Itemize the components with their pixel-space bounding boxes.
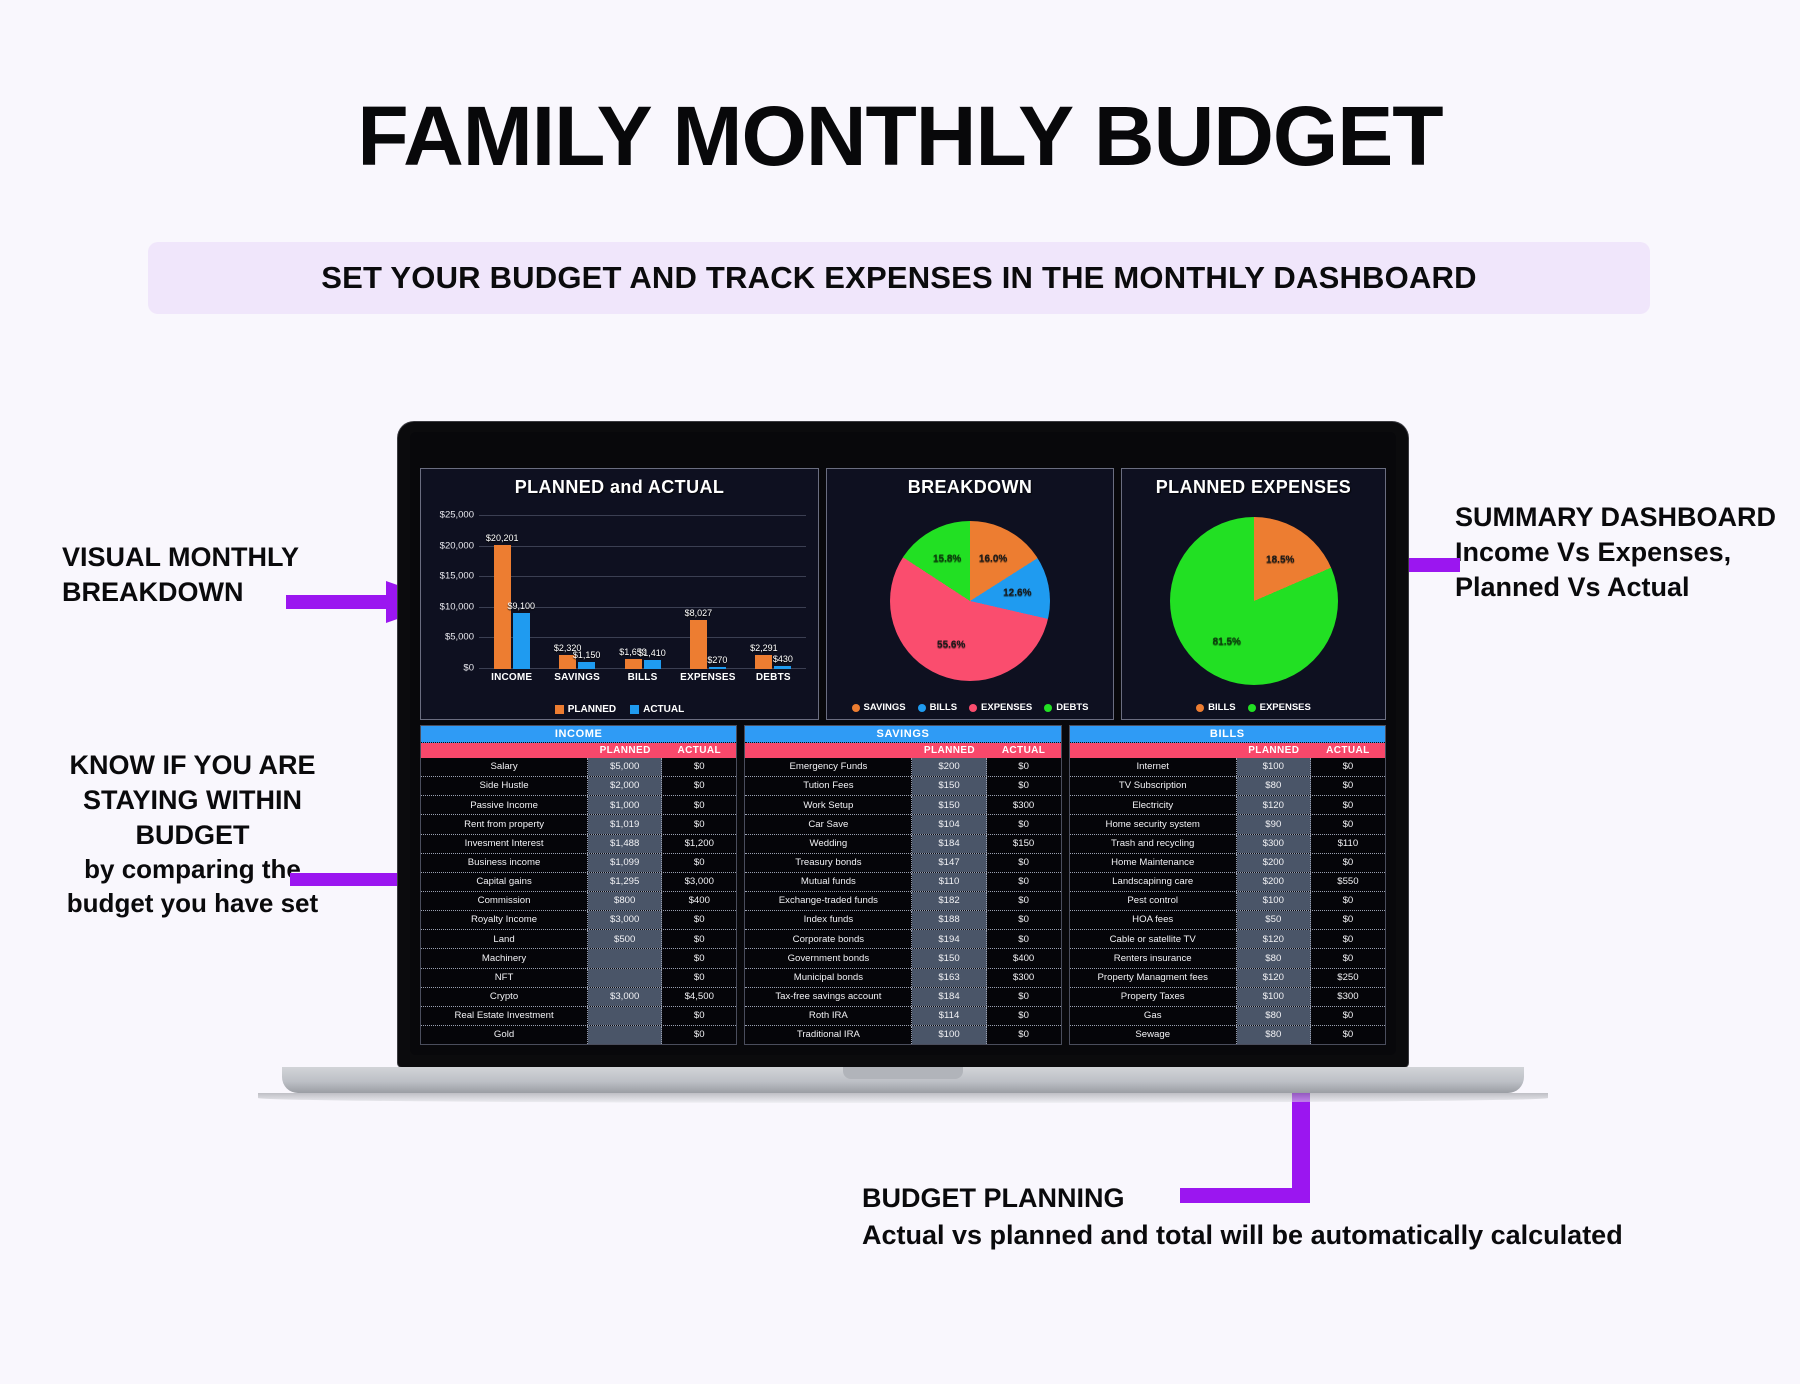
table-row[interactable]: Emergency Funds$200$0 [745, 758, 1060, 777]
actual-cell[interactable]: $0 [662, 854, 736, 872]
table-bills[interactable]: BILLSPLANNEDACTUALInternet$100$0TV Subsc… [1069, 725, 1386, 1045]
legend-item[interactable]: BILLS [918, 702, 957, 713]
bar-value-label: $1,150 [573, 650, 601, 660]
actual-cell[interactable]: $110 [1311, 835, 1385, 853]
actual-cell[interactable]: $0 [662, 796, 736, 814]
x-axis-label: DEBTS [741, 672, 806, 683]
planned-cell[interactable]: $1,019 [588, 815, 662, 833]
subtitle-text: SET YOUR BUDGET AND TRACK EXPENSES IN TH… [321, 260, 1476, 296]
planned-expenses-pie-legend: BILLSEXPENSES [1196, 702, 1311, 715]
actual-cell[interactable]: $150 [987, 835, 1061, 853]
legend-label: SAVINGS [864, 702, 906, 713]
actual-cell[interactable]: $0 [1311, 815, 1385, 833]
bar-value-label: $1,410 [638, 648, 666, 658]
bar-value-label: $8,027 [685, 608, 713, 618]
legend-label: PLANNED [568, 704, 616, 715]
planned-expenses-pie-area: 18.5%81.5% [1128, 500, 1379, 702]
legend-item[interactable]: DEBTS [1044, 702, 1088, 713]
row-label: Tax-free savings account [745, 988, 912, 1006]
laptop-screen: PLANNED and ACTUAL $0$5,000$10,000$15,00… [410, 432, 1396, 1055]
row-label: Municipal bonds [745, 969, 912, 987]
table-row[interactable]: Home security system$90$0 [1070, 815, 1385, 834]
row-label: Business income [421, 854, 588, 872]
planned-cell[interactable]: $80 [1237, 1007, 1311, 1025]
actual-cell[interactable]: $0 [1311, 911, 1385, 929]
actual-cell[interactable]: $0 [1311, 777, 1385, 795]
bar-value-label: $20,201 [486, 533, 519, 543]
table-row[interactable]: Landscapinng care$200$550 [1070, 873, 1385, 892]
planned-cell[interactable]: $90 [1237, 815, 1311, 833]
legend-dot [969, 704, 977, 712]
actual-cell[interactable]: $0 [987, 892, 1061, 910]
table-row[interactable]: Property Taxes$100$300 [1070, 988, 1385, 1007]
table-row[interactable]: Government bonds$150$400 [745, 949, 1060, 968]
row-label: Machinery [421, 949, 588, 967]
table-row[interactable]: Real Estate Investment$0 [421, 1007, 736, 1026]
laptop-lid: PLANNED and ACTUAL $0$5,000$10,000$15,00… [398, 422, 1408, 1067]
row-label: Property Taxes [1070, 988, 1237, 1006]
row-label: Tution Fees [745, 777, 912, 795]
annotation-budget-planning-sub: Actual vs planned and total will be auto… [862, 1217, 1652, 1254]
tables-row: INCOMEPLANNEDACTUALSalary$5,000$0Side Hu… [420, 725, 1386, 1045]
bar-actual[interactable]: $1,150 [578, 662, 595, 669]
legend-swatch [555, 705, 564, 714]
actual-cell[interactable]: $0 [987, 854, 1061, 872]
table-row[interactable]: Sewage$80$0 [1070, 1026, 1385, 1044]
legend-item[interactable]: EXPENSES [969, 702, 1032, 713]
row-label: Pest control [1070, 892, 1237, 910]
table-row[interactable]: Mutual funds$110$0 [745, 873, 1060, 892]
table-row[interactable]: Crypto$3,000$4,500 [421, 988, 736, 1007]
planned-cell[interactable]: $100 [1237, 988, 1311, 1006]
table-row[interactable]: Cable or satellite TV$120$0 [1070, 930, 1385, 949]
x-axis-label: SAVINGS [544, 672, 609, 683]
legend-label: EXPENSES [1260, 702, 1311, 713]
planned-cell[interactable]: $1,295 [588, 873, 662, 891]
column-header [745, 743, 912, 758]
annotation-summary-dashboard-sub: Income Vs Expenses, Planned Vs Actual [1455, 535, 1785, 605]
row-label: Gas [1070, 1007, 1237, 1025]
table-row[interactable]: Pest control$100$0 [1070, 892, 1385, 911]
table-row[interactable]: Treasury bonds$147$0 [745, 854, 1060, 873]
annotation-visual-monthly-breakdown: VISUAL MONTHLY BREAKDOWN [62, 540, 362, 609]
table-row[interactable]: Index funds$188$0 [745, 911, 1060, 930]
table-body: Internet$100$0TV Subscription$80$0Electr… [1070, 758, 1385, 1044]
legend-item[interactable]: EXPENSES [1248, 702, 1311, 713]
table-row[interactable]: Corporate bonds$194$0 [745, 930, 1060, 949]
planned-cell[interactable]: $188 [912, 911, 986, 929]
breakdown-pie-area: 16.0%12.6%55.6%15.8% [833, 500, 1107, 702]
actual-cell[interactable]: $0 [662, 1026, 736, 1044]
row-label: Cable or satellite TV [1070, 930, 1237, 948]
column-header: PLANNED [912, 743, 986, 758]
planned-cell[interactable] [588, 969, 662, 987]
column-header [1070, 743, 1237, 758]
actual-cell[interactable]: $0 [987, 930, 1061, 948]
table-row[interactable]: NFT$0 [421, 969, 736, 988]
pie-slice-label: 12.6% [1003, 587, 1031, 598]
planned-cell[interactable]: $100 [1237, 892, 1311, 910]
table-row[interactable]: Rent from property$1,019$0 [421, 815, 736, 834]
table-row[interactable]: Trash and recycling$300$110 [1070, 835, 1385, 854]
legend-item[interactable]: PLANNED [555, 704, 616, 715]
table-row[interactable]: Tax-free savings account$184$0 [745, 988, 1060, 1007]
planned-cell[interactable]: $80 [1237, 1026, 1311, 1044]
table-row[interactable]: Capital gains$1,295$3,000 [421, 873, 736, 892]
planned-cell[interactable]: $50 [1237, 911, 1311, 929]
planned-cell[interactable]: $182 [912, 892, 986, 910]
bar-actual[interactable]: $9,100 [513, 613, 530, 669]
planned-cell[interactable]: $200 [1237, 854, 1311, 872]
planned-cell[interactable]: $150 [912, 949, 986, 967]
planned-cell[interactable] [588, 1007, 662, 1025]
charts-row: PLANNED and ACTUAL $0$5,000$10,000$15,00… [420, 468, 1386, 720]
actual-cell[interactable]: $0 [662, 758, 736, 776]
bar-chart-plot: $0$5,000$10,000$15,000$20,000$25,000$20,… [479, 516, 806, 669]
actual-cell[interactable]: $550 [1311, 873, 1385, 891]
bar-value-label: $430 [773, 654, 793, 664]
legend-dot [1196, 704, 1204, 712]
actual-cell[interactable]: $400 [662, 892, 736, 910]
bar-value-label: $2,291 [750, 643, 778, 653]
pie-slice-label: 55.6% [937, 640, 965, 651]
planned-cell[interactable]: $200 [1237, 873, 1311, 891]
table-body: Salary$5,000$0Side Hustle$2,000$0Passive… [421, 758, 736, 1044]
planned-cell[interactable]: $3,000 [588, 988, 662, 1006]
row-label: Real Estate Investment [421, 1007, 588, 1025]
table-header-row: PLANNEDACTUAL [745, 743, 1060, 758]
x-axis-label: BILLS [610, 672, 675, 683]
column-header: PLANNED [588, 743, 662, 758]
row-label: Rent from property [421, 815, 588, 833]
actual-cell[interactable]: $0 [662, 911, 736, 929]
legend-dot [918, 704, 926, 712]
bar-group[interactable]: $8,027$270 [675, 516, 740, 669]
actual-cell[interactable]: $0 [987, 873, 1061, 891]
row-label: Wedding [745, 835, 912, 853]
row-label: Government bonds [745, 949, 912, 967]
row-label: Royalty Income [421, 911, 588, 929]
row-label: Invesment Interest [421, 835, 588, 853]
row-label: Emergency Funds [745, 758, 912, 776]
planned-cell[interactable]: $800 [588, 892, 662, 910]
row-label: Commission [421, 892, 588, 910]
budget-dashboard: PLANNED and ACTUAL $0$5,000$10,000$15,00… [416, 468, 1390, 1049]
laptop-base [282, 1067, 1524, 1093]
actual-cell[interactable]: $1,200 [662, 835, 736, 853]
planned-cell[interactable]: $150 [912, 796, 986, 814]
planned-cell[interactable]: $194 [912, 930, 986, 948]
planned-expenses-pie: 18.5%81.5% [1170, 517, 1338, 685]
planned-cell[interactable]: $184 [912, 988, 986, 1006]
planned-cell[interactable]: $3,000 [588, 911, 662, 929]
table-savings[interactable]: SAVINGSPLANNEDACTUALEmergency Funds$200$… [744, 725, 1061, 1045]
actual-cell[interactable]: $4,500 [662, 988, 736, 1006]
planned-cell[interactable]: $200 [912, 758, 986, 776]
legend-label: BILLS [930, 702, 957, 713]
column-header: ACTUAL [1311, 743, 1385, 758]
pie-slice-label: 18.5% [1266, 555, 1294, 566]
row-label: HOA fees [1070, 911, 1237, 929]
actual-cell[interactable]: $0 [987, 988, 1061, 1006]
annotation-budget-planning: BUDGET PLANNING Actual vs planned and to… [862, 1180, 1652, 1255]
table-row[interactable]: Car Save$104$0 [745, 815, 1060, 834]
table-row[interactable]: Property Managment fees$120$250 [1070, 969, 1385, 988]
actual-cell[interactable]: $0 [662, 1007, 736, 1025]
legend-item[interactable]: ACTUAL [630, 704, 684, 715]
bar-value-label: $9,100 [507, 601, 535, 611]
planned-cell[interactable]: $163 [912, 969, 986, 987]
table-row[interactable]: Home Maintenance$200$0 [1070, 854, 1385, 873]
actual-cell[interactable]: $300 [987, 969, 1061, 987]
actual-cell[interactable]: $0 [1311, 1026, 1385, 1044]
actual-cell[interactable]: $250 [1311, 969, 1385, 987]
actual-cell[interactable]: $0 [662, 815, 736, 833]
pie-slice-label: 15.8% [933, 553, 961, 564]
pie-slice-label: 16.0% [979, 553, 1007, 564]
actual-cell[interactable]: $300 [1311, 988, 1385, 1006]
row-label: Work Setup [745, 796, 912, 814]
table-income[interactable]: INCOMEPLANNEDACTUALSalary$5,000$0Side Hu… [420, 725, 737, 1045]
actual-cell[interactable]: $0 [662, 949, 736, 967]
row-label: Exchange-traded funds [745, 892, 912, 910]
legend-swatch [630, 705, 639, 714]
actual-cell[interactable]: $0 [662, 969, 736, 987]
actual-cell[interactable]: $0 [662, 777, 736, 795]
legend-item[interactable]: BILLS [1196, 702, 1235, 713]
row-label: Gold [421, 1026, 588, 1044]
table-header-row: PLANNEDACTUAL [1070, 743, 1385, 758]
bar-planned[interactable]: $1,659 [625, 659, 642, 669]
planned-cell[interactable]: $120 [1237, 796, 1311, 814]
column-header: PLANNED [1237, 743, 1311, 758]
row-label: Home security system [1070, 815, 1237, 833]
table-row[interactable]: Traditional IRA$100$0 [745, 1026, 1060, 1044]
planned-cell[interactable]: $184 [912, 835, 986, 853]
row-label: Land [421, 930, 588, 948]
y-axis-tick: $0 [463, 663, 474, 674]
table-row[interactable]: TV Subscription$80$0 [1070, 777, 1385, 796]
actual-cell[interactable]: $0 [987, 1026, 1061, 1044]
table-row[interactable]: Electricity$120$0 [1070, 796, 1385, 815]
table-row[interactable]: Side Hustle$2,000$0 [421, 777, 736, 796]
table-row[interactable]: Salary$5,000$0 [421, 758, 736, 777]
bar-value-label: $270 [707, 655, 727, 665]
planned-cell[interactable]: $2,000 [588, 777, 662, 795]
x-axis-label: INCOME [479, 672, 544, 683]
table-row[interactable]: Royalty Income$3,000$0 [421, 911, 736, 930]
actual-cell[interactable]: $0 [1311, 1007, 1385, 1025]
legend-item[interactable]: SAVINGS [852, 702, 906, 713]
panel-breakdown[interactable]: BREAKDOWN 16.0%12.6%55.6%15.8% SAVINGSBI… [826, 468, 1114, 720]
legend-dot [852, 704, 860, 712]
y-axis-tick: $25,000 [440, 510, 474, 521]
planned-cell[interactable]: $120 [1237, 969, 1311, 987]
planned-cell[interactable]: $100 [1237, 758, 1311, 776]
column-header [421, 743, 588, 758]
table-row[interactable]: Gas$80$0 [1070, 1007, 1385, 1026]
row-label: Salary [421, 758, 588, 776]
column-header: ACTUAL [662, 743, 736, 758]
bar-actual[interactable]: $270 [709, 667, 726, 669]
table-row[interactable]: Passive Income$1,000$0 [421, 796, 736, 815]
row-label: Roth IRA [745, 1007, 912, 1025]
table-row[interactable]: Internet$100$0 [1070, 758, 1385, 777]
table-row[interactable]: Business income$1,099$0 [421, 854, 736, 873]
planned-cell[interactable]: $5,000 [588, 758, 662, 776]
planned-cell[interactable] [588, 949, 662, 967]
annotation-staying-within-budget: KNOW IF YOU ARE STAYING WITHIN BUDGET by… [60, 748, 325, 921]
actual-cell[interactable]: $0 [987, 777, 1061, 795]
row-label: Treasury bonds [745, 854, 912, 872]
subtitle-banner: SET YOUR BUDGET AND TRACK EXPENSES IN TH… [148, 242, 1650, 314]
row-label: NFT [421, 969, 588, 987]
actual-cell[interactable]: $0 [1311, 892, 1385, 910]
row-label: Crypto [421, 988, 588, 1006]
planned-cell[interactable]: $147 [912, 854, 986, 872]
planned-cell[interactable]: $104 [912, 815, 986, 833]
bar-group[interactable]: $1,659$1,410 [610, 516, 675, 669]
actual-cell[interactable]: $0 [987, 758, 1061, 776]
legend-label: DEBTS [1056, 702, 1088, 713]
bar-chart-legend: PLANNEDACTUAL [555, 703, 684, 715]
chart-title-breakdown: BREAKDOWN [908, 477, 1033, 498]
actual-cell[interactable]: $0 [987, 911, 1061, 929]
panel-planned-and-actual[interactable]: PLANNED and ACTUAL $0$5,000$10,000$15,00… [420, 468, 819, 720]
chart-title-planned-expenses: PLANNED EXPENSES [1156, 477, 1351, 498]
planned-cell[interactable]: $100 [912, 1026, 986, 1044]
x-axis-label: EXPENSES [675, 672, 740, 683]
legend-label: ACTUAL [643, 704, 684, 715]
table-title: INCOME [421, 726, 736, 743]
row-label: Property Managment fees [1070, 969, 1237, 987]
legend-dot [1044, 704, 1052, 712]
actual-cell[interactable]: $3,000 [662, 873, 736, 891]
actual-cell[interactable]: $0 [662, 930, 736, 948]
pie-slice-label: 81.5% [1213, 636, 1241, 647]
bar-chart-x-axis: INCOMESAVINGSBILLSEXPENSESDEBTS [479, 672, 806, 683]
actual-cell[interactable]: $400 [987, 949, 1061, 967]
row-label: Car Save [745, 815, 912, 833]
bar-planned[interactable]: $2,291 [755, 655, 772, 669]
table-row[interactable]: Exchange-traded funds$182$0 [745, 892, 1060, 911]
actual-cell[interactable]: $0 [1311, 796, 1385, 814]
row-label: Capital gains [421, 873, 588, 891]
bar-planned[interactable]: $8,027 [690, 620, 707, 669]
planned-cell[interactable]: $300 [1237, 835, 1311, 853]
planned-cell[interactable]: $1,000 [588, 796, 662, 814]
row-label: Trash and recycling [1070, 835, 1237, 853]
row-label: Landscapinng care [1070, 873, 1237, 891]
y-axis-tick: $5,000 [445, 632, 474, 643]
row-label: Index funds [745, 911, 912, 929]
row-label: Side Hustle [421, 777, 588, 795]
row-label: TV Subscription [1070, 777, 1237, 795]
annotation-summary-dashboard-head: SUMMARY DASHBOARD [1455, 500, 1785, 535]
laptop-mockup: PLANNED and ACTUAL $0$5,000$10,000$15,00… [398, 422, 1408, 1103]
row-label: Renters insurance [1070, 949, 1237, 967]
laptop-notch [843, 1067, 963, 1079]
y-axis-tick: $20,000 [440, 540, 474, 551]
row-label: Electricity [1070, 796, 1237, 814]
table-row[interactable]: HOA fees$50$0 [1070, 911, 1385, 930]
row-label: Passive Income [421, 796, 588, 814]
planned-cell[interactable]: $500 [588, 930, 662, 948]
planned-cell[interactable]: $1,099 [588, 854, 662, 872]
breakdown-pie: 16.0%12.6%55.6%15.8% [890, 521, 1050, 681]
panel-planned-expenses[interactable]: PLANNED EXPENSES 18.5%81.5% BILLSEXPENSE… [1121, 468, 1386, 720]
planned-cell[interactable] [588, 1026, 662, 1044]
bar-chart: $0$5,000$10,000$15,000$20,000$25,000$20,… [427, 500, 812, 703]
table-row[interactable]: Wedding$184$150 [745, 835, 1060, 854]
legend-dot [1248, 704, 1256, 712]
annotation-staying-within-budget-sub: by comparing the budget you have set [60, 853, 325, 921]
planned-cell[interactable]: $1,488 [588, 835, 662, 853]
actual-cell[interactable]: $0 [1311, 758, 1385, 776]
annotation-budget-planning-head: BUDGET PLANNING [862, 1180, 1652, 1217]
bar-group[interactable]: $2,291$430 [741, 516, 806, 669]
planned-cell[interactable]: $150 [912, 777, 986, 795]
table-header-row: PLANNEDACTUAL [421, 743, 736, 758]
column-header: ACTUAL [987, 743, 1061, 758]
actual-cell[interactable]: $300 [987, 796, 1061, 814]
planned-cell[interactable]: $114 [912, 1007, 986, 1025]
actual-cell[interactable]: $0 [1311, 949, 1385, 967]
row-label: Traditional IRA [745, 1026, 912, 1044]
row-label: Home Maintenance [1070, 854, 1237, 872]
breakdown-pie-legend: SAVINGSBILLSEXPENSESDEBTS [852, 702, 1089, 715]
planned-cell[interactable]: $80 [1237, 949, 1311, 967]
bar-actual[interactable]: $430 [774, 666, 791, 669]
row-label: Corporate bonds [745, 930, 912, 948]
table-row[interactable]: Renters insurance$80$0 [1070, 949, 1385, 968]
actual-cell[interactable]: $0 [987, 1007, 1061, 1025]
legend-label: BILLS [1208, 702, 1235, 713]
legend-label: EXPENSES [981, 702, 1032, 713]
planned-cell[interactable]: $120 [1237, 930, 1311, 948]
planned-cell[interactable]: $110 [912, 873, 986, 891]
row-label: Sewage [1070, 1026, 1237, 1044]
table-row[interactable]: Gold$0 [421, 1026, 736, 1044]
table-row[interactable]: Commission$800$400 [421, 892, 736, 911]
table-body: Emergency Funds$200$0Tution Fees$150$0Wo… [745, 758, 1060, 1044]
y-axis-tick: $10,000 [440, 601, 474, 612]
table-title: BILLS [1070, 726, 1385, 743]
bar-actual[interactable]: $1,410 [644, 660, 661, 669]
chart-title-planned-actual: PLANNED and ACTUAL [515, 477, 725, 498]
planned-cell[interactable]: $80 [1237, 777, 1311, 795]
table-row[interactable]: Work Setup$150$300 [745, 796, 1060, 815]
table-row[interactable]: Municipal bonds$163$300 [745, 969, 1060, 988]
annotation-summary-dashboard: SUMMARY DASHBOARD Income Vs Expenses, Pl… [1455, 500, 1785, 605]
table-row[interactable]: Land$500$0 [421, 930, 736, 949]
table-row[interactable]: Roth IRA$114$0 [745, 1007, 1060, 1026]
table-row[interactable]: Tution Fees$150$0 [745, 777, 1060, 796]
actual-cell[interactable]: $0 [1311, 854, 1385, 872]
page-title: FAMILY MONTHLY BUDGET [0, 88, 1800, 185]
table-row[interactable]: Machinery$0 [421, 949, 736, 968]
actual-cell[interactable]: $0 [1311, 930, 1385, 948]
bar-group-container: $20,201$9,100$2,320$1,150$1,659$1,410$8,… [479, 516, 806, 669]
y-axis-tick: $15,000 [440, 571, 474, 582]
bar-group[interactable]: $2,320$1,150 [544, 516, 609, 669]
table-row[interactable]: Invesment Interest$1,488$1,200 [421, 835, 736, 854]
table-title: SAVINGS [745, 726, 1060, 743]
row-label: Mutual funds [745, 873, 912, 891]
bar-group[interactable]: $20,201$9,100 [479, 516, 544, 669]
laptop-base-shadow [258, 1093, 1548, 1103]
actual-cell[interactable]: $0 [987, 815, 1061, 833]
